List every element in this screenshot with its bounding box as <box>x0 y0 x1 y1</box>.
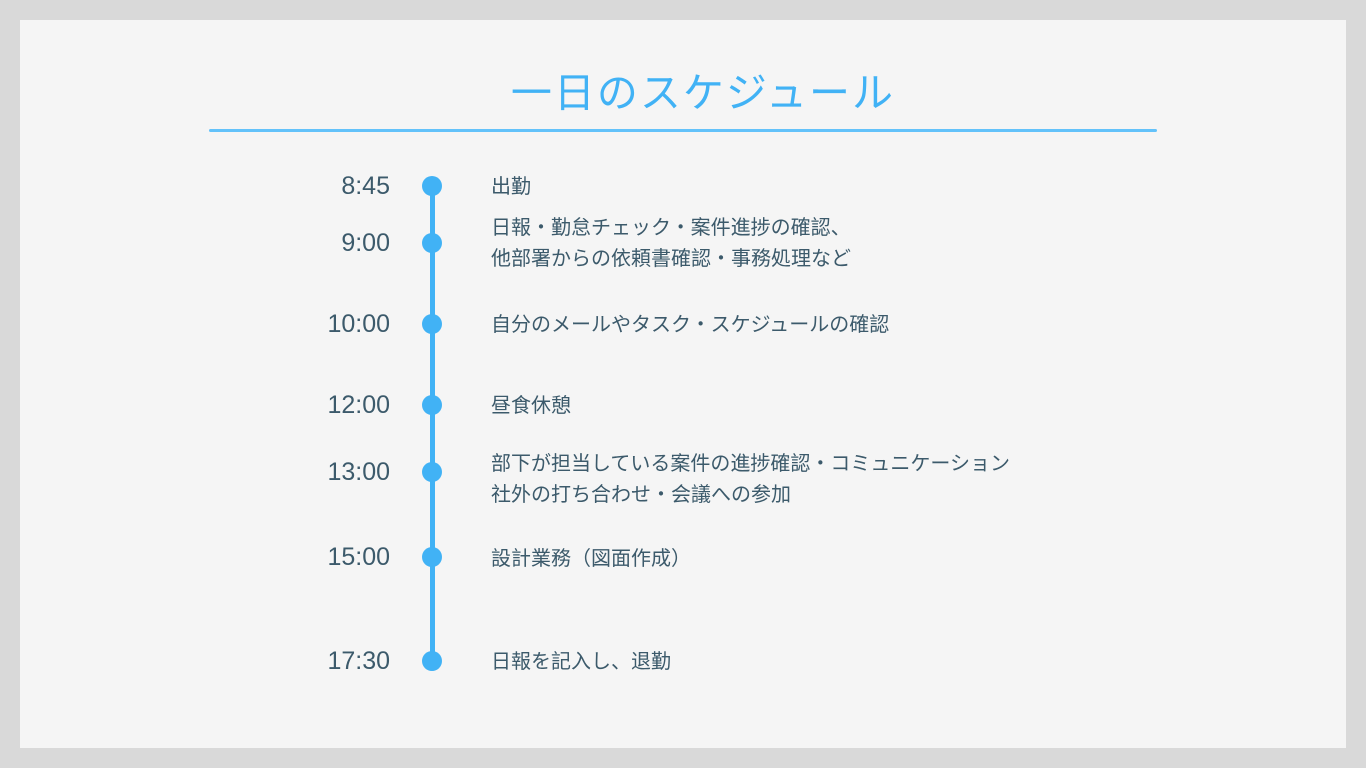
timeline-dot-icon <box>422 395 442 415</box>
timeline-item-description: 昼食休憩 <box>491 391 1291 422</box>
slide-canvas: 一日のスケジュール 8:45 出勤 9:00 日報・勤怠チェック・案件進捗の確認… <box>20 20 1346 748</box>
timeline-dot-icon <box>422 314 442 334</box>
timeline-item-description: 自分のメールやタスク・スケジュールの確認 <box>491 310 1291 341</box>
timeline-dot-icon <box>422 462 442 482</box>
timeline-dot-icon <box>422 176 442 196</box>
timeline-dot-icon <box>422 233 442 253</box>
timeline-item-time: 13:00 <box>170 457 390 487</box>
timeline-dot-icon <box>422 547 442 567</box>
timeline-dot-icon <box>422 651 442 671</box>
timeline-item-description: 設計業務（図面作成） <box>491 544 1291 575</box>
timeline-item-description: 部下が担当している案件の進捗確認・コミュニケーション 社外の打ち合わせ・会議への… <box>491 449 1291 511</box>
timeline-item-time: 17:30 <box>170 646 390 676</box>
timeline-item-time: 8:45 <box>170 171 390 201</box>
timeline-item-time: 9:00 <box>170 228 390 258</box>
timeline-item-description: 出勤 <box>491 172 1291 203</box>
timeline-axis-line <box>430 186 435 661</box>
timeline: 8:45 出勤 9:00 日報・勤怠チェック・案件進捗の確認、 他部署からの依頼… <box>20 20 1346 748</box>
timeline-item-time: 10:00 <box>170 309 390 339</box>
timeline-item-time: 12:00 <box>170 390 390 420</box>
timeline-item-description: 日報・勤怠チェック・案件進捗の確認、 他部署からの依頼書確認・事務処理など <box>491 213 1291 275</box>
timeline-item-time: 15:00 <box>170 542 390 572</box>
timeline-item-description: 日報を記入し、退勤 <box>491 647 1291 678</box>
